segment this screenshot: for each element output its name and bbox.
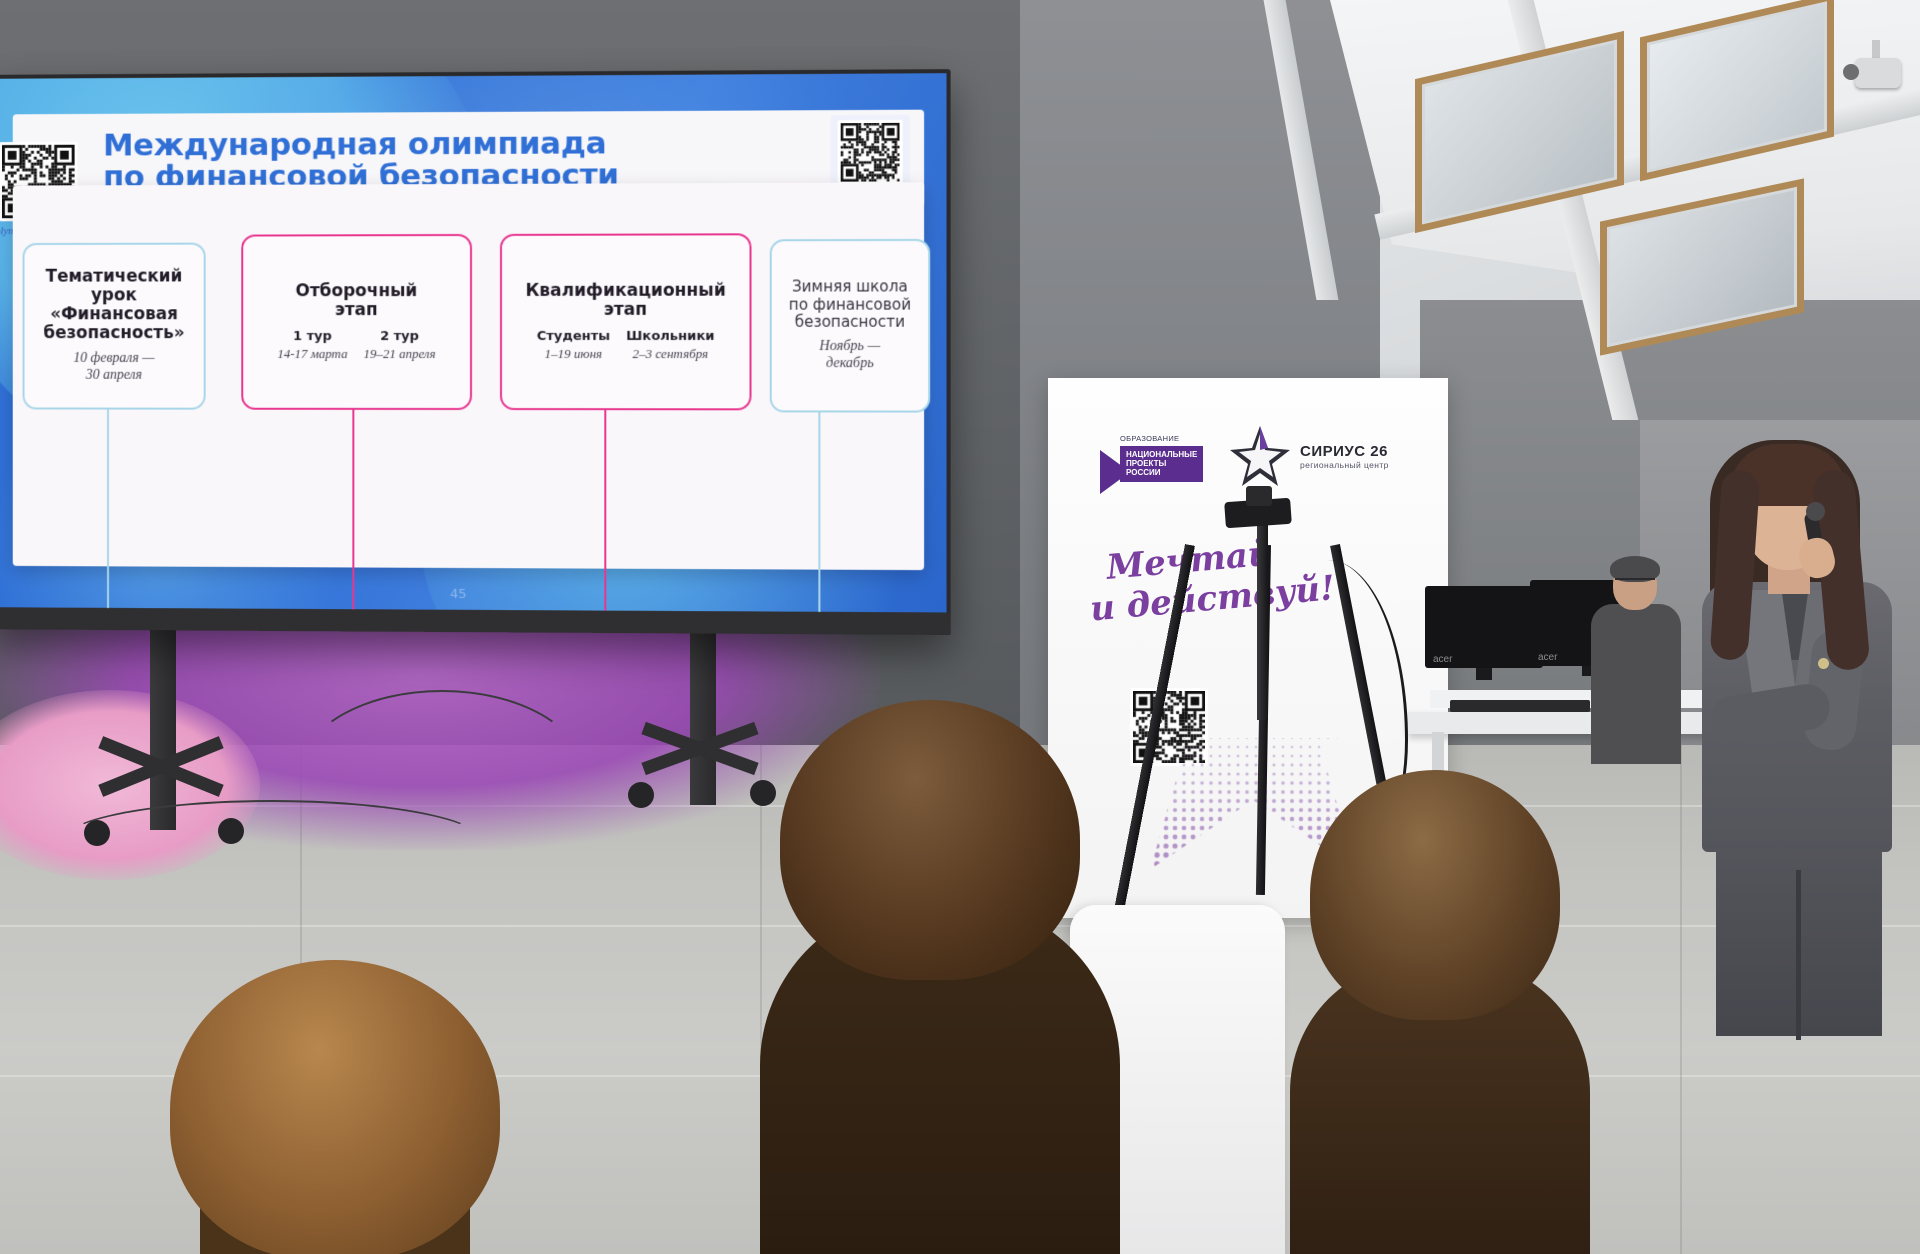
- box-title-line1: Тематический урок: [32, 268, 195, 306]
- tripod-column: [1257, 520, 1268, 720]
- box-date: Ноябрь — декабрь: [819, 339, 880, 373]
- presenter-badge-pin: [1818, 658, 1829, 669]
- sirius-subtitle: региональный центр: [1300, 460, 1389, 470]
- timeline-box-winter-school: Зимняя школа по финансовой безопасности …: [770, 239, 930, 413]
- audience-head: [780, 700, 1080, 980]
- box-title-line3: безопасности: [795, 314, 905, 332]
- star-icon: [1228, 424, 1292, 488]
- logo-badge-line2: ПРОЕКТЫ: [1126, 459, 1166, 468]
- tv-stand-caster: [750, 780, 776, 806]
- timeline-connector: [604, 410, 606, 612]
- box-title-line2: «Финансовая: [50, 305, 178, 324]
- monitor-brand-label: acer: [1433, 654, 1452, 665]
- box-title-line2: по финансовой: [789, 296, 911, 314]
- slide-screen: Международная олимпиада по финансовой бе…: [0, 73, 947, 612]
- logo-badge: НАЦИОНАЛЬНЫЕ ПРОЕКТЫ РОССИИ: [1120, 446, 1203, 482]
- sirius-logo: СИРИУС 26 региональный центр: [1228, 424, 1389, 488]
- box-title-line2: этап: [604, 301, 647, 320]
- sirius-logo-text: СИРИУС 26 региональный центр: [1300, 443, 1389, 470]
- column-date: 14-17 марта: [277, 346, 347, 362]
- box-columns: Студенты 1–19 июня Школьники 2–3 сентябр…: [537, 329, 715, 362]
- presentation-display: Международная олимпиада по финансовой бе…: [0, 69, 951, 635]
- column-label: 1 тур: [293, 329, 332, 344]
- box-column: 2 тур 19–21 апреля: [363, 329, 435, 362]
- box-date-line1: 10 февраля —: [73, 351, 154, 366]
- logo-badge-line3: РОССИИ: [1126, 468, 1161, 477]
- slide-content-card: Тематический урок «Финансовая безопаснос…: [13, 182, 924, 570]
- tv-bezel: Международная олимпиада по финансовой бе…: [0, 73, 947, 612]
- column-label: Студенты: [537, 329, 610, 344]
- timeline-box-thematic-lesson: Тематический урок «Финансовая безопаснос…: [23, 243, 206, 410]
- box-title-line2: этап: [335, 301, 378, 320]
- monitor-brand-label: acer: [1538, 652, 1557, 663]
- sirius-title: СИРИУС 26: [1300, 443, 1389, 460]
- logo-badge-line1: НАЦИОНАЛЬНЫЕ: [1126, 450, 1197, 459]
- box-date-line2: 30 апреля: [86, 368, 142, 383]
- box-title-line3: безопасность»: [43, 324, 184, 343]
- audience-head: [170, 960, 500, 1254]
- column-label: Школьники: [626, 329, 714, 344]
- box-title-line1: Отборочный: [296, 282, 418, 301]
- column-date: 2–3 сентября: [632, 346, 708, 362]
- column-label: 2 тур: [380, 329, 419, 344]
- box-title-line1: Квалификационный: [525, 282, 725, 301]
- security-camera-icon: [1855, 58, 1901, 88]
- timeline-box-qualification-stage: Квалификационный этап Студенты 1–19 июня…: [500, 233, 752, 410]
- box-date-line2: декабрь: [826, 356, 874, 371]
- timeline-connector: [107, 410, 109, 610]
- box-column: 1 тур 14-17 марта: [277, 329, 347, 362]
- timeline-connector: [818, 412, 820, 612]
- timeline-diagram: Тематический урок «Финансовая безопаснос…: [13, 182, 924, 570]
- box-title-line1: Зимняя школа: [792, 278, 908, 296]
- qr-code-right-icon: [838, 120, 903, 185]
- screenshot-root: Международная олимпиада по финансовой бе…: [0, 0, 1920, 1254]
- audience-head: [1310, 770, 1560, 1020]
- presenter-leg-split: [1796, 870, 1801, 1040]
- timeline-box-selection-stage: Отборочный этап 1 тур 14-17 марта 2 тур: [241, 234, 472, 410]
- presenter: [1650, 440, 1920, 1000]
- tv-stand-column: [150, 630, 176, 830]
- box-column: Студенты 1–19 июня: [537, 329, 610, 362]
- timeline-connector: [352, 410, 354, 612]
- box-date: 10 февраля — 30 апреля: [73, 351, 154, 384]
- column-date: 19–21 апреля: [363, 346, 435, 362]
- column-date: 1–19 июня: [545, 346, 603, 362]
- national-projects-logo: ОБРАЗОВАНИЕ НАЦИОНАЛЬНЫЕ ПРОЕКТЫ РОССИИ: [1100, 434, 1210, 494]
- microphone-head-icon: [1806, 502, 1825, 521]
- box-date-line1: Ноябрь —: [819, 339, 880, 354]
- keyboard: [1450, 700, 1590, 712]
- tv-stand-column: [690, 630, 716, 805]
- slide-page-number: 45: [450, 587, 467, 602]
- monitor-left: acer: [1425, 586, 1543, 668]
- slide-canvas: Международная олимпиада по финансовой бе…: [0, 73, 947, 612]
- power-cable: [300, 690, 584, 854]
- glasses-icon: [1615, 578, 1655, 589]
- tv-stand-caster: [628, 782, 654, 808]
- box-column: Школьники 2–3 сентября: [626, 329, 714, 362]
- logo-caption: ОБРАЗОВАНИЕ: [1120, 434, 1179, 443]
- box-columns: 1 тур 14-17 марта 2 тур 19–21 апреля: [277, 329, 435, 362]
- tripod-camera: [1246, 486, 1272, 506]
